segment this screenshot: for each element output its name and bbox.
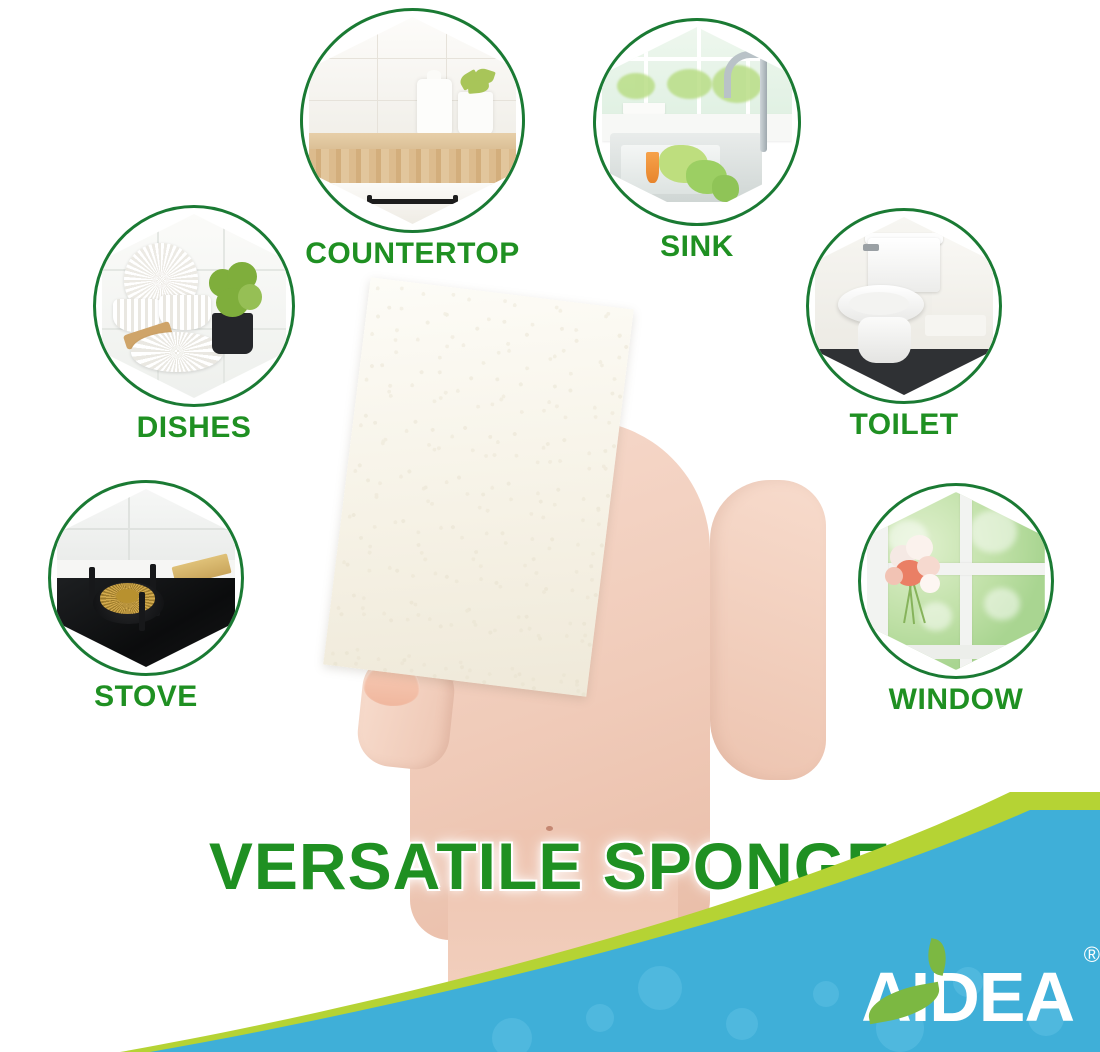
use-case-badge-stove: STOVE — [48, 480, 244, 712]
brand-logo: AIDEA ® — [861, 944, 1074, 1030]
toilet-photo — [806, 208, 1002, 404]
use-case-badge-toilet: TOILET — [806, 208, 1002, 440]
use-case-badge-sink: SINK — [593, 18, 801, 262]
page-title: VERSATILE SPONGE — [0, 828, 1100, 904]
product-image-canvas: COUNTERTOP — [0, 0, 1100, 1052]
use-case-badge-window: WINDOW — [858, 483, 1054, 715]
use-case-label: TOILET — [806, 410, 1002, 440]
use-case-label: COUNTERTOP — [300, 239, 525, 269]
use-case-badge-dishes: DISHES — [93, 205, 295, 443]
stove-photo — [48, 480, 244, 676]
window-photo — [858, 483, 1054, 679]
sponge-product — [323, 277, 634, 696]
brand-wordmark: AIDEA — [861, 964, 1074, 1031]
hero-hand-holding-sponge — [300, 270, 820, 1030]
thumb — [710, 480, 826, 780]
use-case-label: STOVE — [48, 682, 244, 712]
registered-trademark-icon: ® — [1084, 942, 1100, 968]
leaf-icon-dot — [923, 938, 951, 976]
use-case-label: DISHES — [93, 413, 295, 443]
countertop-photo — [300, 8, 525, 233]
use-case-badge-countertop: COUNTERTOP — [300, 8, 525, 269]
use-case-label: WINDOW — [858, 685, 1054, 715]
use-case-label: SINK — [593, 232, 801, 262]
sink-photo — [593, 18, 801, 226]
dishes-photo — [93, 205, 295, 407]
leaf-icon-swoosh — [865, 982, 943, 1024]
